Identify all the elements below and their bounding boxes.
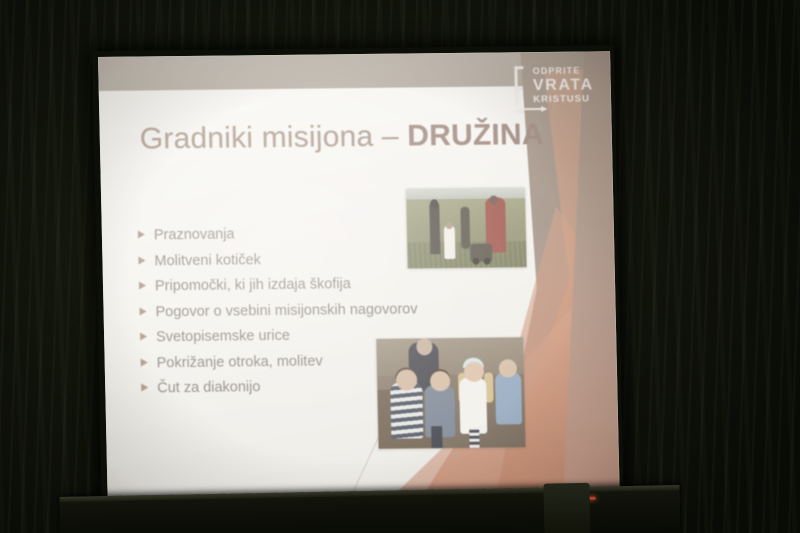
triangle-bullet-icon — [139, 281, 146, 289]
projection-screen: ODPRITE VRATA KRISTUSU Gradniki misijona… — [98, 51, 620, 512]
photo-outdoor-family — [406, 187, 527, 268]
photo-girl-head — [463, 362, 483, 382]
photo-child-body — [444, 225, 456, 259]
furniture-block — [543, 483, 590, 533]
logo-line-2: VRATA — [533, 76, 594, 94]
door-arrow-icon — [518, 108, 546, 110]
list-item-label: Pripomočki, ki jih izdaja škofija — [155, 276, 351, 294]
triangle-bullet-icon — [140, 332, 147, 340]
photo-child-striped-shirt — [390, 382, 423, 438]
door-dash-mark — [516, 87, 523, 90]
photo-person-head — [430, 199, 438, 208]
list-item-label: Svetopisemske urice — [156, 328, 290, 346]
logo-line-3: KRISTUSU — [533, 93, 594, 106]
photo-child-head — [396, 369, 417, 390]
photo-child-striped-leg — [469, 428, 479, 448]
photo-child-head — [445, 222, 452, 229]
slide-title-separator: – — [381, 120, 399, 153]
list-item-label: Čut za diakonijo — [157, 379, 261, 396]
open-door-bracket-icon — [515, 66, 529, 106]
list-item-label: Pogovor o vsebini misijonskih nagovorov — [155, 301, 417, 320]
photo-stroller-wheel — [484, 257, 491, 264]
photo-adult-head — [416, 338, 432, 355]
photo-child-head — [499, 359, 517, 377]
auditorium-room: ODPRITE VRATA KRISTUSU Gradniki misijona… — [0, 0, 800, 533]
triangle-bullet-icon — [139, 307, 146, 315]
photo-girl-white-shirt — [459, 377, 487, 433]
logo-line-1: ODPRITE — [533, 65, 594, 77]
photo-child-far-right — [495, 372, 522, 424]
list-item-label: Molitveni kotiček — [154, 252, 261, 269]
presentation-slide: ODPRITE VRATA KRISTUSU Gradniki misijona… — [98, 51, 620, 512]
photo-children-group — [376, 337, 525, 449]
list-item: Pogovor o vsebini misijonskih nagovorov — [139, 300, 469, 320]
triangle-bullet-icon — [138, 230, 145, 238]
photo-person-body — [460, 207, 470, 249]
slide-title: Gradniki misijona – DRUŽINA — [139, 118, 544, 157]
triangle-bullet-icon — [141, 358, 148, 366]
brand-logo: ODPRITE VRATA KRISTUSU — [515, 65, 595, 106]
slide-title-emphasis: DRUŽINA — [407, 118, 544, 153]
slide-title-plain: Gradniki misijona — [139, 120, 373, 156]
list-item-label: Pokrižanje otroka, molitev — [157, 353, 323, 371]
photo-child-leg — [431, 426, 442, 448]
photo-person-body — [429, 202, 440, 254]
slide-page-number: 22 — [452, 453, 461, 460]
slide-content: ODPRITE VRATA KRISTUSU Gradniki misijona… — [98, 51, 620, 512]
triangle-bullet-icon — [138, 256, 145, 264]
brand-logo-text: ODPRITE VRATA KRISTUSU — [533, 65, 595, 106]
photo-child-head — [430, 371, 450, 391]
list-item-label: Praznovanja — [154, 226, 235, 243]
triangle-bullet-icon — [141, 383, 148, 391]
list-item: Pripomočki, ki jih izdaja škofija — [139, 275, 469, 295]
